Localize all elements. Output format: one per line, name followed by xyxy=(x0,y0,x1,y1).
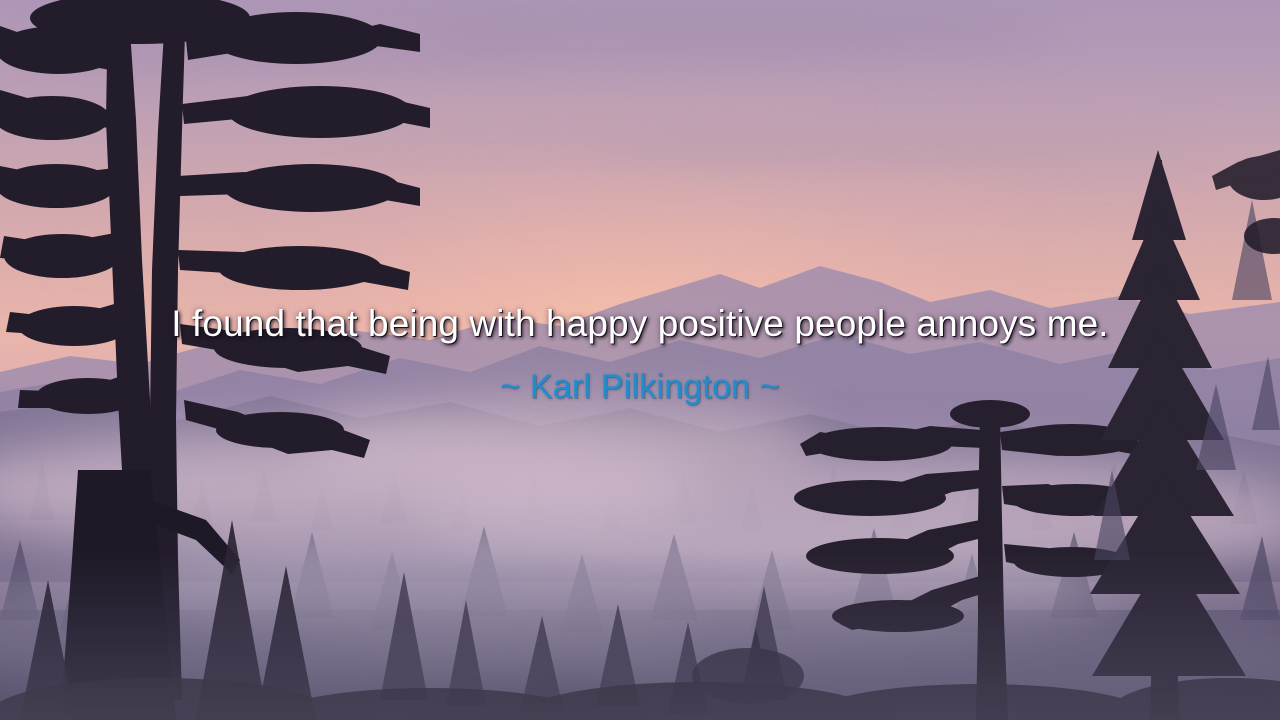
quote-overlay: I found that being with happy positive p… xyxy=(0,300,1280,408)
tree-right-edge-foliage xyxy=(1212,150,1280,254)
quote-wallpaper: I found that being with happy positive p… xyxy=(0,0,1280,720)
quote-text: I found that being with happy positive p… xyxy=(0,300,1280,348)
quote-author: ~ Karl Pilkington ~ xyxy=(0,366,1280,408)
bottom-vignette xyxy=(0,550,1280,720)
